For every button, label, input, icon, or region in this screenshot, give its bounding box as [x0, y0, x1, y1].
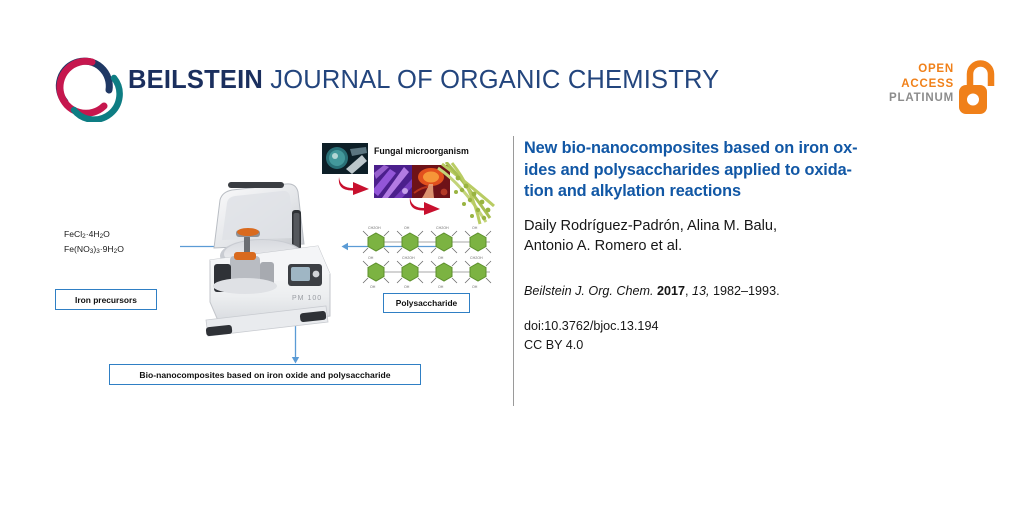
article-title: New bio-nanocomposites based on iron ox-…	[524, 138, 944, 203]
open-access-line-2: ACCESS	[889, 77, 954, 92]
open-lock-icon	[956, 60, 998, 118]
svg-text:OH: OH	[438, 285, 444, 289]
formula-fecl2: FeCl2·4H2O	[64, 228, 124, 243]
svg-text:OH: OH	[404, 285, 410, 289]
article-title-line-2: ides and polysaccharides applied to oxid…	[524, 161, 852, 179]
journal-title: BEILSTEIN JOURNAL OF ORGANIC CHEMISTRY	[128, 68, 719, 94]
citation-year: 2017	[657, 284, 685, 298]
fungal-microorganism-label: Fungal microorganism	[374, 146, 469, 156]
article-authors-line-1: Daily Rodríguez-Padrón, Alina M. Balu,	[524, 218, 777, 234]
svg-text:OH: OH	[370, 285, 376, 289]
iron-precursor-formulas: FeCl2·4H2O Fe(NO3)3·9H2O	[64, 228, 124, 257]
article-title-line-1: New bio-nanocomposites based on iron ox-	[524, 139, 857, 157]
article-info: New bio-nanocomposites based on iron ox-…	[524, 138, 944, 355]
polysaccharide-label-box: Polysaccharide	[383, 293, 470, 313]
journal-title-light: JOURNAL OF ORGANIC CHEMISTRY	[263, 66, 719, 94]
journal-header: BEILSTEIN JOURNAL OF ORGANIC CHEMISTRY O…	[0, 0, 1024, 128]
red-arrow-to-micrographs-icon	[337, 174, 371, 195]
article-cover-page: BEILSTEIN JOURNAL OF ORGANIC CHEMISTRY O…	[0, 0, 1024, 512]
article-doi-block: doi:10.3762/bjoc.13.194 CC BY 4.0	[524, 317, 944, 355]
svg-text:PM 100: PM 100	[292, 295, 322, 302]
formula-feno33: Fe(NO3)3·9H2O	[64, 243, 124, 258]
svg-text:OH: OH	[472, 226, 478, 230]
citation-volume: 13,	[692, 284, 710, 298]
svg-text:OH: OH	[472, 285, 478, 289]
ball-mill-instrument-image: PM 100	[200, 170, 350, 348]
polysaccharide-structure-image: CH2OHOH CH2OHOH OHCH2OH OHCH2OH OHOH OHO…	[358, 224, 500, 290]
open-access-badge: OPEN ACCESS PLATINUM	[880, 58, 998, 124]
svg-text:OH: OH	[368, 256, 374, 260]
article-citation: Beilstein J. Org. Chem. 2017, 13, 1982–1…	[524, 283, 944, 301]
svg-text:CH2OH: CH2OH	[436, 226, 449, 230]
open-access-line-1: OPEN	[889, 62, 954, 77]
polysaccharide-chains-image	[436, 162, 498, 226]
article-license: CC BY 4.0	[524, 336, 944, 355]
beilstein-logo-icon	[52, 56, 126, 122]
open-access-text: OPEN ACCESS PLATINUM	[889, 62, 954, 106]
svg-text:CH2OH: CH2OH	[368, 226, 381, 230]
citation-pages: 1982–1993.	[713, 284, 780, 298]
vertical-divider	[513, 136, 514, 406]
journal-title-strong: BEILSTEIN	[128, 66, 263, 94]
svg-text:OH: OH	[404, 226, 410, 230]
svg-text:CH2OH: CH2OH	[402, 256, 415, 260]
article-authors-line-2: Antonio A. Romero et al.	[524, 238, 682, 254]
svg-text:OH: OH	[438, 256, 444, 260]
graphical-abstract: FeCl2·4H2O Fe(NO3)3·9H2O	[40, 132, 500, 404]
iron-precursors-label-box: Iron precursors	[55, 289, 157, 310]
micrograph-violet-image	[374, 165, 412, 198]
petri-dish-photo	[322, 143, 368, 174]
article-title-line-3: tion and alkylation reactions	[524, 182, 741, 200]
article-doi[interactable]: doi:10.3762/bjoc.13.194	[524, 317, 944, 336]
citation-journal: Beilstein J. Org. Chem.	[524, 284, 653, 298]
open-access-line-3: PLATINUM	[889, 91, 954, 106]
svg-text:CH2OH: CH2OH	[470, 256, 483, 260]
article-authors: Daily Rodríguez-Padrón, Alina M. Balu, A…	[524, 216, 944, 257]
bio-nanocomposites-label-box: Bio-nanocomposites based on iron oxide a…	[109, 364, 421, 385]
